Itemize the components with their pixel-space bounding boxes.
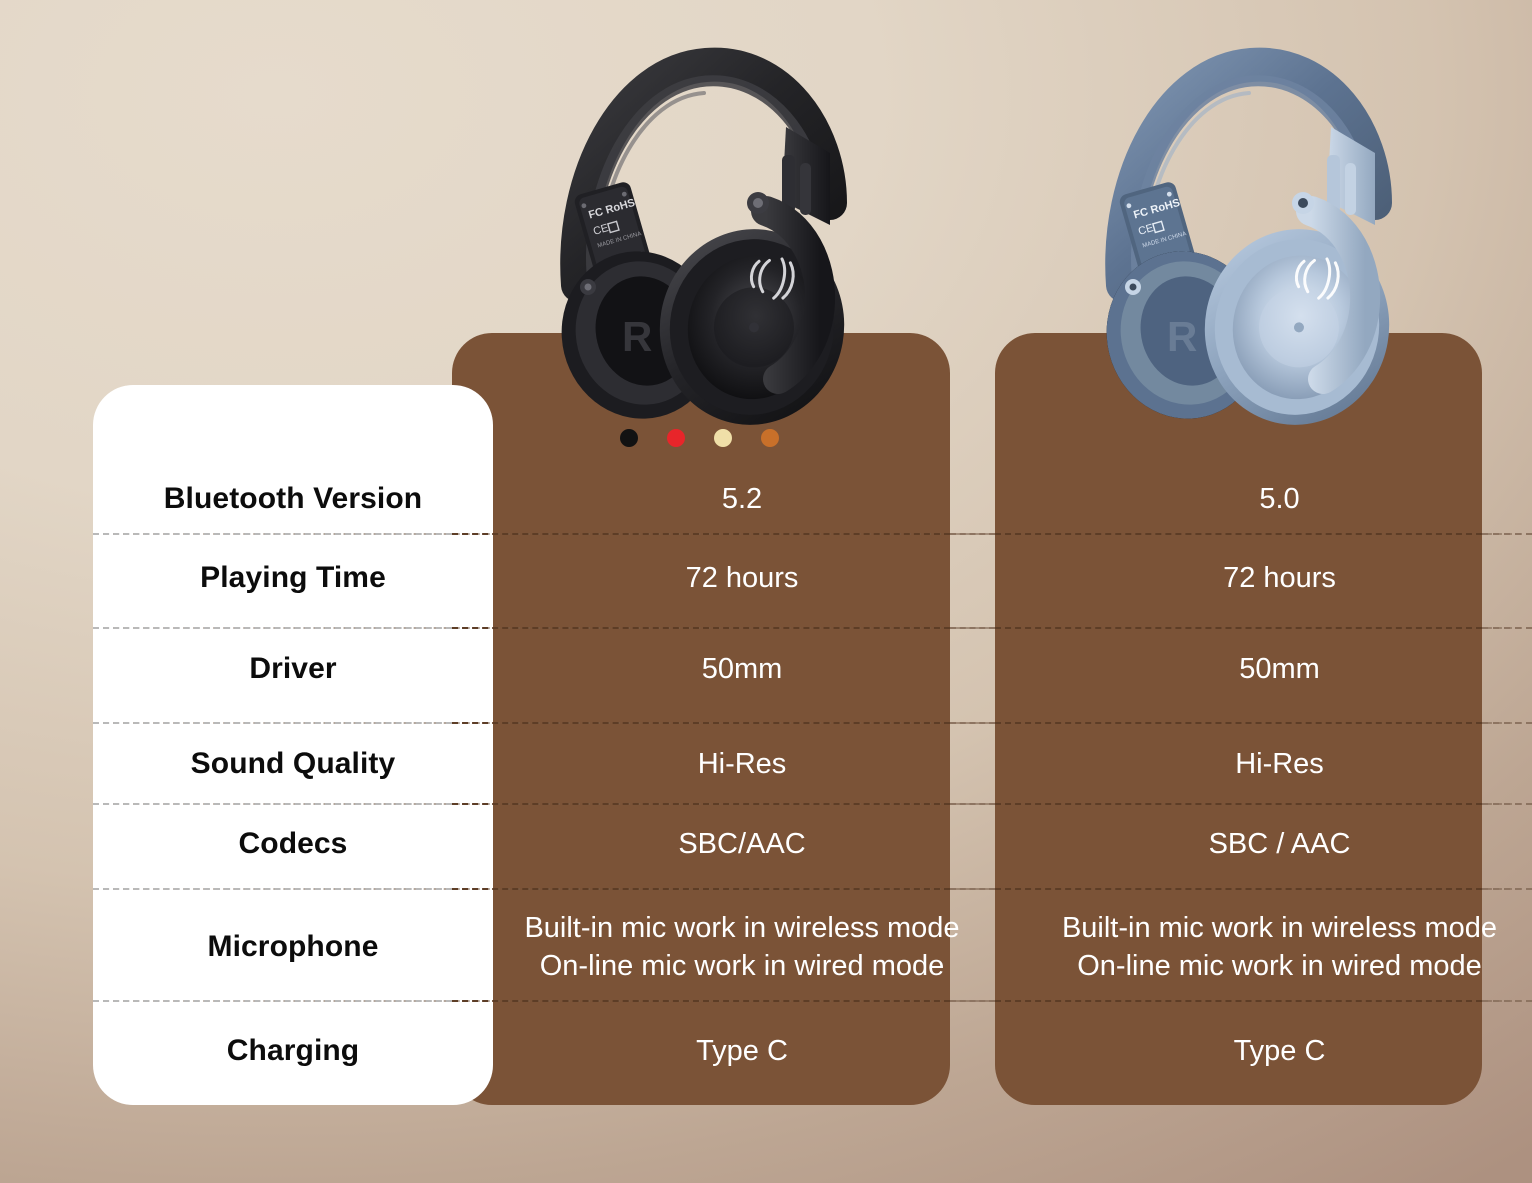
row-separator <box>93 722 1532 724</box>
row-separator <box>93 627 1532 629</box>
row-label-sound-quality: Sound Quality <box>0 747 493 781</box>
row-value-bluetooth-version-product-2: 5.0 <box>1036 480 1523 518</box>
row-separator <box>93 533 1532 535</box>
row-value-bluetooth-version-product-1: 5.2 <box>493 480 991 518</box>
row-value-playing-time-product-1: 72 hours <box>493 559 991 597</box>
table-row: Codecs SBC/AAC SBC / AAC <box>0 813 1532 875</box>
microphone-line-1: Built-in mic work in wireless mode <box>493 909 991 947</box>
spec-card-product-1 <box>452 333 950 1105</box>
color-swatch-black[interactable] <box>620 429 638 447</box>
row-label-microphone: Microphone <box>0 930 493 964</box>
row-separator <box>93 803 1532 805</box>
table-row: Bluetooth Version 5.2 5.0 <box>0 468 1532 530</box>
table-row: Playing Time 72 hours 72 hours <box>0 547 1532 609</box>
row-value-charging-product-2: Type C <box>1036 1032 1523 1070</box>
color-swatch-orange[interactable] <box>761 429 779 447</box>
row-label-charging: Charging <box>0 1034 493 1068</box>
product-image-blue-headphones: FC RoHS CE MADE IN CHINA R <box>1075 35 1405 435</box>
row-label-bluetooth-version: Bluetooth Version <box>0 482 493 516</box>
row-separator <box>93 888 1532 890</box>
svg-text:R: R <box>622 313 652 360</box>
row-value-driver-product-2: 50mm <box>1036 650 1523 688</box>
color-option-swatches[interactable] <box>620 428 780 448</box>
product-image-black-headphones: FC RoHS CE MADE IN CHINA R <box>530 35 860 435</box>
color-swatch-red[interactable] <box>667 429 685 447</box>
color-swatch-cream[interactable] <box>714 429 732 447</box>
table-row: Driver 50mm 50mm <box>0 638 1532 700</box>
row-label-driver: Driver <box>0 652 493 686</box>
row-label-playing-time: Playing Time <box>0 561 493 595</box>
row-value-charging-product-1: Type C <box>493 1032 991 1070</box>
row-value-microphone-product-1: Built-in mic work in wireless mode On-li… <box>493 909 991 986</box>
row-value-codecs-product-2: SBC / AAC <box>1036 825 1523 863</box>
table-row: Charging Type C Type C <box>0 1020 1532 1082</box>
microphone-line-2: On-line mic work in wired mode <box>1036 947 1523 985</box>
microphone-line-2: On-line mic work in wired mode <box>493 947 991 985</box>
spec-card-product-2 <box>995 333 1482 1105</box>
comparison-infographic: FC RoHS CE MADE IN CHINA R <box>0 0 1532 1183</box>
row-value-driver-product-1: 50mm <box>493 650 991 688</box>
table-row: Sound Quality Hi-Res Hi-Res <box>0 733 1532 795</box>
row-value-sound-quality-product-1: Hi-Res <box>493 745 991 783</box>
svg-text:R: R <box>1167 313 1197 360</box>
row-value-codecs-product-1: SBC/AAC <box>493 825 991 863</box>
row-value-sound-quality-product-2: Hi-Res <box>1036 745 1523 783</box>
microphone-line-1: Built-in mic work in wireless mode <box>1036 909 1523 947</box>
row-value-microphone-product-2: Built-in mic work in wireless mode On-li… <box>1036 909 1523 986</box>
table-row: Microphone Built-in mic work in wireless… <box>0 905 1532 989</box>
row-separator <box>93 1000 1532 1002</box>
row-value-playing-time-product-2: 72 hours <box>1036 559 1523 597</box>
row-label-codecs: Codecs <box>0 827 493 861</box>
